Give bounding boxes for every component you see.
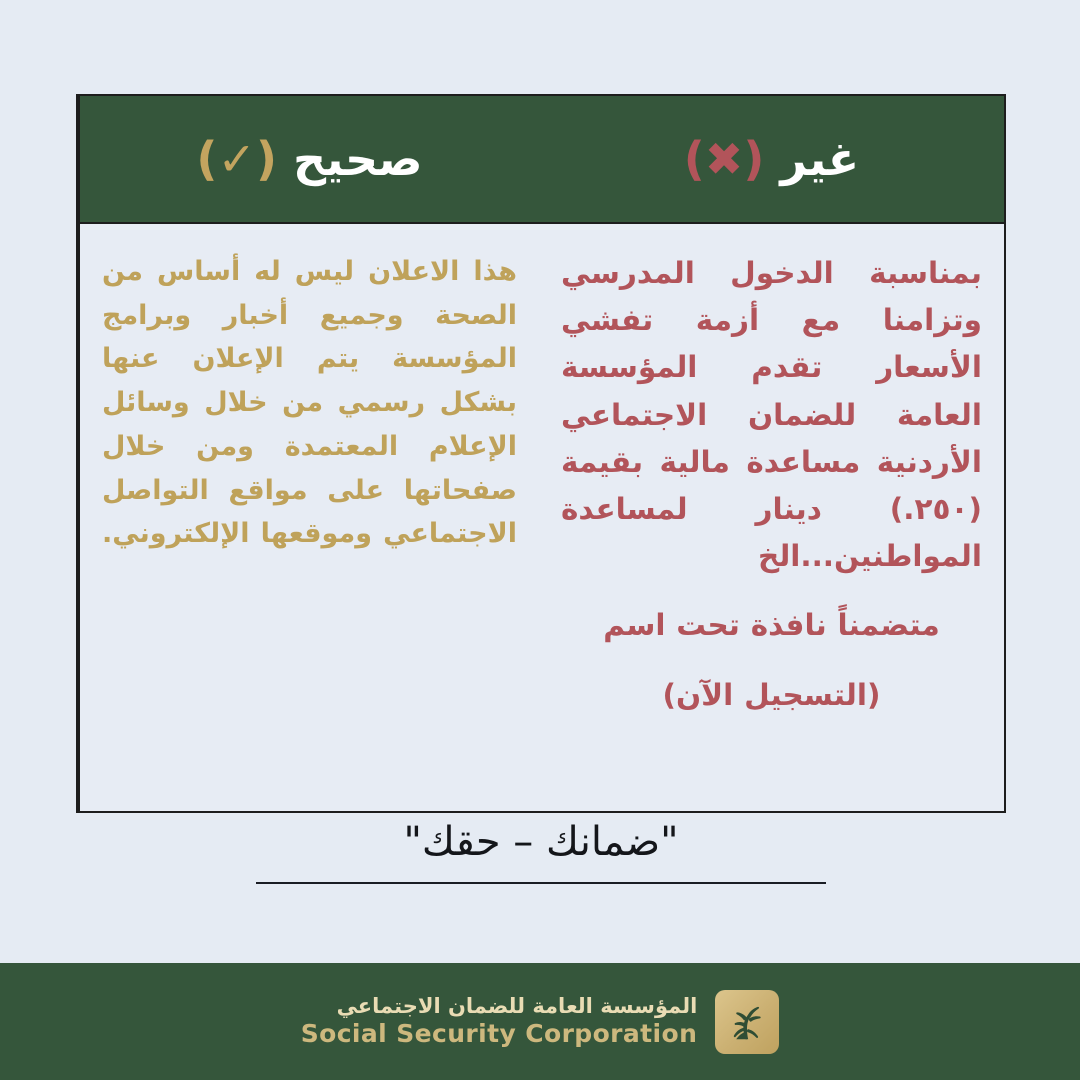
wrong-paragraph-1: بمناسبة الدخول المدرسي وتزامنا مع أزمة ت… — [561, 250, 982, 580]
footer-bar: المؤسسة العامة للضمان الاجتماعي Social S… — [0, 963, 1080, 1080]
correct-paragraph-1: هذا الاعلان ليس له أساس من الصحة وجميع أ… — [102, 250, 517, 556]
slogan-section: "ضمانك – حقك" — [76, 818, 1006, 884]
slogan-divider — [256, 882, 826, 884]
correct-column: صحيح (✓) هذا الاعلان ليس له أساس من الصح… — [78, 96, 539, 811]
correct-column-header: صحيح (✓) — [80, 96, 539, 224]
cross-mark-icon: (✖) — [684, 136, 765, 182]
correct-column-header-label: صحيح — [293, 136, 423, 182]
wrong-paragraph-3: (التسجيل الآن) — [561, 672, 982, 719]
wrong-column-body: بمناسبة الدخول المدرسي وتزامنا مع أزمة ت… — [539, 224, 1004, 811]
footer-arabic-name: المؤسسة العامة للضمان الاجتماعي — [337, 994, 698, 1019]
olive-tree-logo-icon — [715, 990, 779, 1054]
slogan-text: "ضمانك – حقك" — [76, 818, 1006, 866]
wrong-column-header-label: غير — [780, 136, 859, 182]
correct-column-body: هذا الاعلان ليس له أساس من الصحة وجميع أ… — [80, 224, 539, 811]
wrong-column: غير (✖) بمناسبة الدخول المدرسي وتزامنا م… — [539, 96, 1004, 811]
footer-org-name: المؤسسة العامة للضمان الاجتماعي Social S… — [301, 994, 698, 1048]
check-mark-icon: (✓) — [196, 136, 277, 182]
wrong-column-header: غير (✖) — [539, 96, 1004, 224]
footer-english-name: Social Security Corporation — [301, 1019, 698, 1049]
wrong-paragraph-2: متضمناً نافذة تحت اسم — [561, 602, 982, 649]
comparison-table: غير (✖) بمناسبة الدخول المدرسي وتزامنا م… — [76, 94, 1006, 813]
